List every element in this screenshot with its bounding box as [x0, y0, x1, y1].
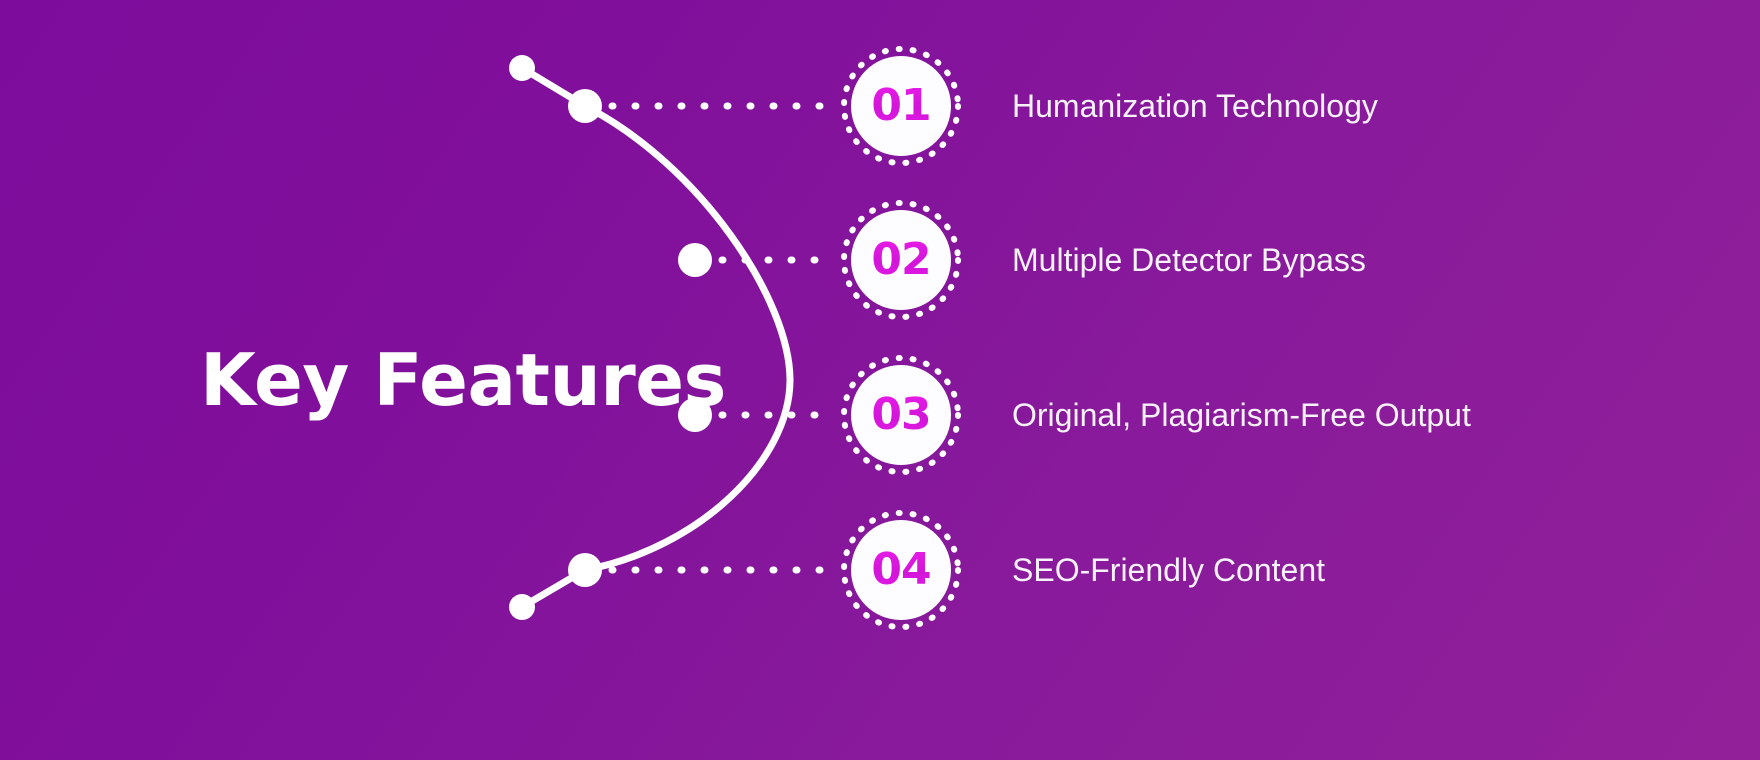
- feature-badge-01[interactable]: 01: [838, 43, 964, 169]
- spine-endpoint-top: [509, 55, 535, 81]
- feature-badge-03[interactable]: 03: [838, 352, 964, 478]
- feature-label: Humanization Technology: [1012, 90, 1378, 122]
- feature-number: 02: [871, 238, 930, 282]
- feature-number: 03: [871, 393, 930, 437]
- spine-curve: [522, 68, 790, 607]
- spine-endpoint-bottom: [509, 594, 535, 620]
- feature-item-04[interactable]: 04 SEO-Friendly Content: [838, 507, 1325, 633]
- node-dot-03: [678, 398, 712, 432]
- feature-label: Original, Plagiarism-Free Output: [1012, 399, 1471, 431]
- feature-number: 01: [871, 84, 930, 128]
- feature-label: SEO-Friendly Content: [1012, 554, 1325, 586]
- feature-item-03[interactable]: 03 Original, Plagiarism-Free Output: [838, 352, 1471, 478]
- feature-badge-04[interactable]: 04: [838, 507, 964, 633]
- feature-item-01[interactable]: 01 Humanization Technology: [838, 43, 1378, 169]
- node-dot-04: [568, 553, 602, 587]
- key-features-slide: Key Features 01 Humanization Technology: [0, 0, 1760, 760]
- feature-badge-02[interactable]: 02: [838, 197, 964, 323]
- feature-number: 04: [871, 548, 930, 592]
- feature-item-02[interactable]: 02 Multiple Detector Bypass: [838, 197, 1366, 323]
- node-dot-01: [568, 89, 602, 123]
- feature-label: Multiple Detector Bypass: [1012, 244, 1366, 276]
- node-dot-02: [678, 243, 712, 277]
